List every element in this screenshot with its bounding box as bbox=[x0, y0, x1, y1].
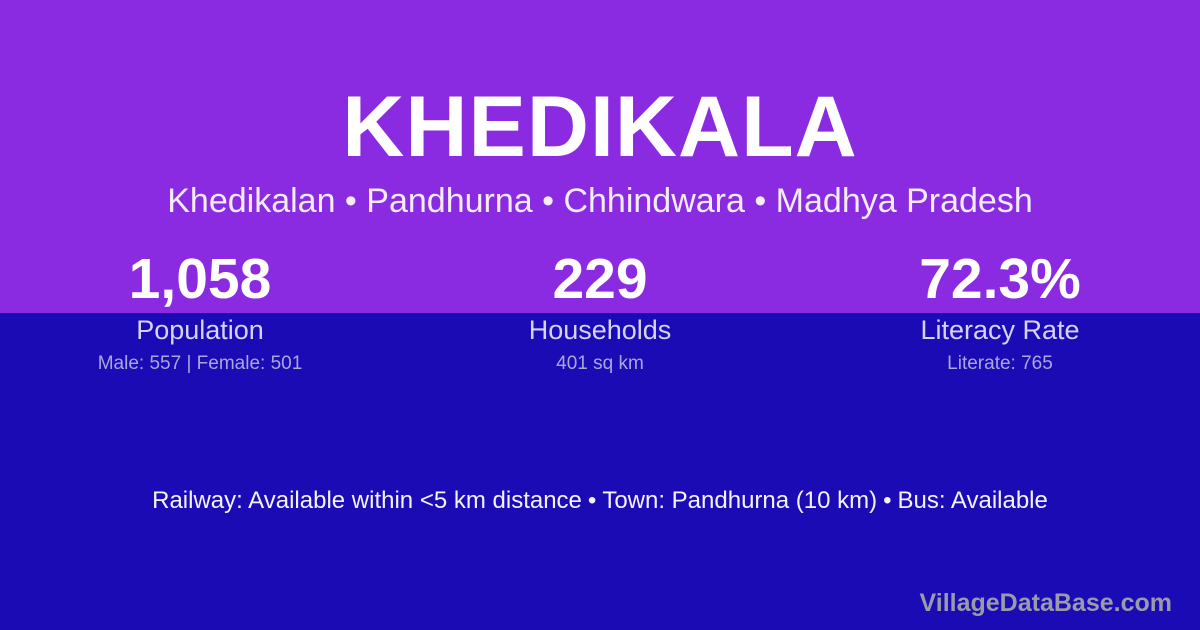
stat-value: 229 bbox=[400, 245, 800, 313]
page-title: KHEDIKALA bbox=[0, 79, 1200, 175]
stat-sublabel: Male: 557 | Female: 501 bbox=[0, 352, 400, 376]
stat-households: 229 Households 401 sq km bbox=[400, 245, 800, 376]
breadcrumb: Khedikalan • Pandhurna • Chhindwara • Ma… bbox=[0, 181, 1200, 221]
stat-label: Households bbox=[400, 314, 800, 346]
stats-row: 1,058 Population Male: 557 | Female: 501… bbox=[0, 245, 1200, 376]
stat-sublabel: Literate: 765 bbox=[800, 352, 1200, 376]
facility-separator: • bbox=[877, 487, 897, 514]
stat-label: Literacy Rate bbox=[800, 314, 1200, 346]
stat-value: 1,058 bbox=[0, 245, 400, 313]
stat-label: Population bbox=[0, 314, 400, 346]
facility-separator: • bbox=[582, 487, 602, 514]
stat-population: 1,058 Population Male: 557 | Female: 501 bbox=[0, 245, 400, 376]
stat-literacy-rate: 72.3% Literacy Rate Literate: 765 bbox=[800, 245, 1200, 376]
facility-bus: Bus: Available bbox=[898, 487, 1048, 514]
facilities-line: Railway: Available within <5 km distance… bbox=[0, 486, 1200, 516]
stat-sublabel: 401 sq km bbox=[400, 352, 800, 376]
facility-railway: Railway: Available within <5 km distance bbox=[152, 487, 582, 514]
card-content: KHEDIKALA Khedikalan • Pandhurna • Chhin… bbox=[0, 0, 1200, 630]
site-watermark: VillageDataBase.com bbox=[920, 588, 1172, 618]
village-summary-card: KHEDIKALA Khedikalan • Pandhurna • Chhin… bbox=[0, 0, 1200, 630]
stat-value: 72.3% bbox=[800, 245, 1200, 313]
facility-town: Town: Pandhurna (10 km) bbox=[602, 487, 877, 514]
